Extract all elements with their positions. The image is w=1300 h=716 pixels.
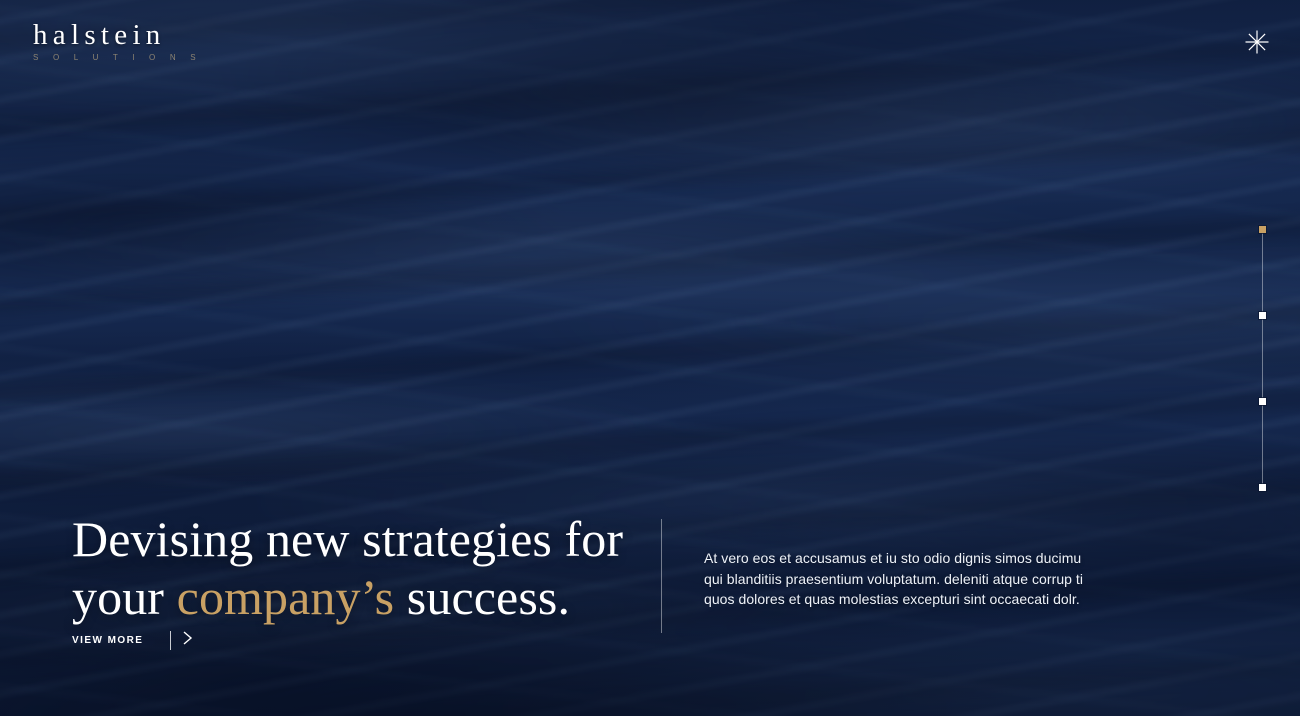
hero-description: At vero eos et accusamus et iu sto odio … <box>704 548 1096 610</box>
hero-headline-before: your <box>72 569 177 625</box>
slider-rail-line <box>1262 230 1263 490</box>
hero-headline-line-2: your company’s success. <box>72 572 672 622</box>
site-header: halstein S O L U T I O N S <box>0 0 1300 86</box>
hero-headline-accent: company’s <box>177 569 395 625</box>
slider-pagination <box>1256 226 1270 492</box>
slider-dot-1[interactable] <box>1259 226 1266 233</box>
chevron-right-icon <box>182 630 193 651</box>
hero-headline-line-1: Devising new strategies for <box>72 511 623 567</box>
view-more-divider <box>170 631 171 650</box>
hero-vertical-divider <box>661 519 662 633</box>
view-more-button[interactable]: VIEW MORE <box>72 630 193 651</box>
slider-dot-4[interactable] <box>1259 484 1266 491</box>
page-stage: halstein S O L U T I O N S Devising new … <box>0 0 1300 716</box>
slider-dot-3[interactable] <box>1259 398 1266 405</box>
hero-headline: Devising new strategies for your company… <box>72 514 672 622</box>
brand-logo-tagline: S O L U T I O N S <box>33 53 193 63</box>
brand-logo-wordmark: halstein <box>33 20 193 50</box>
view-more-label: VIEW MORE <box>72 635 143 646</box>
slider-dot-2[interactable] <box>1259 312 1266 319</box>
eight-point-star-icon[interactable] <box>1244 29 1270 55</box>
hero-headline-after: success. <box>394 569 570 625</box>
brand-logo[interactable]: halstein S O L U T I O N S <box>33 20 193 63</box>
